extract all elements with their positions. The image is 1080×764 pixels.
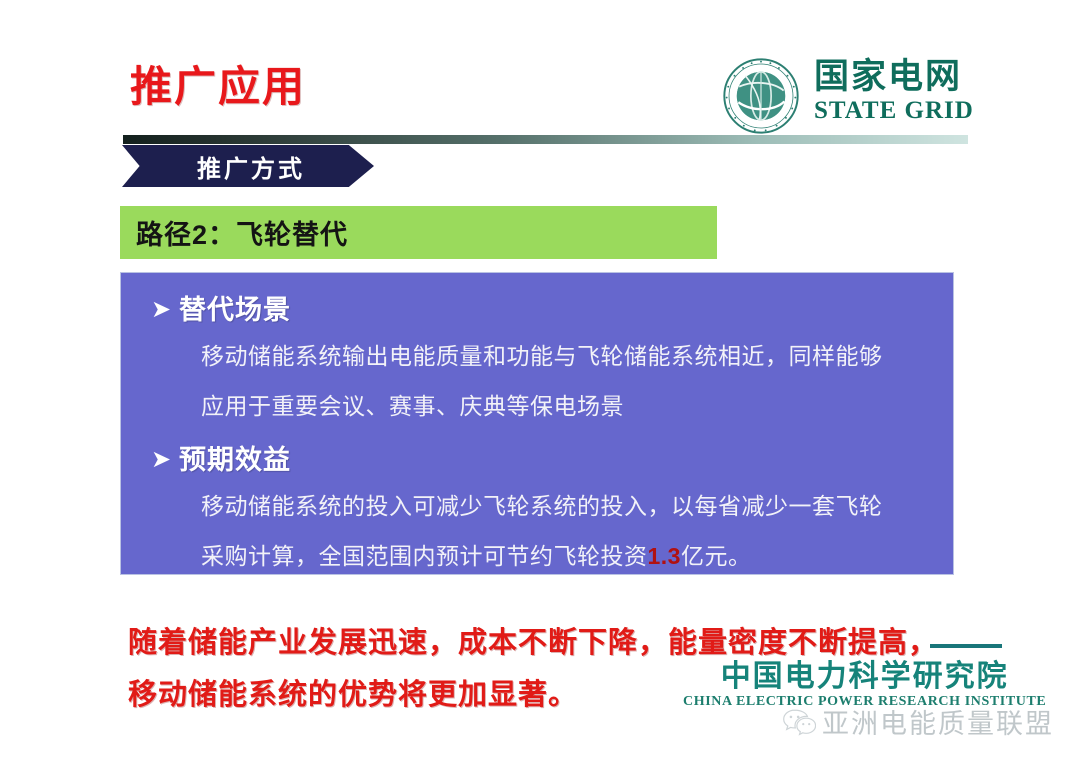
brand-wordmark: 国家电网 STATE GRID <box>814 59 974 123</box>
paragraph-text-before: 采购计算，全国范围内预计可节约飞轮投资 <box>201 543 648 569</box>
title-divider <box>123 135 968 144</box>
paragraph-line: 移动储能系统的投入可减少飞轮系统的投入，以每省减少一套飞轮 <box>201 483 931 529</box>
bullet-heading: 预期效益 <box>179 441 291 479</box>
green-section-bar: 路径2：飞轮替代 <box>120 206 717 259</box>
brand-name-en: STATE GRID <box>814 98 974 123</box>
paragraph-line: 应用于重要会议、赛事、庆典等保电场景 <box>201 383 931 429</box>
bullet-block-expected-benefit: ➤ 预期效益 <box>143 441 931 479</box>
chevron-arrow-bullet-icon: ➤ <box>143 441 179 479</box>
brand-name-cn: 国家电网 <box>814 59 974 94</box>
institute-name-cn: 中国电力科学研究院 <box>683 662 1046 692</box>
green-section-label: 路径2：飞轮替代 <box>120 213 348 252</box>
bullet-block-replacement-scenario: ➤ 替代场景 <box>143 291 931 329</box>
page-title: 推广应用 <box>130 66 306 108</box>
paragraph-line: 移动储能系统输出电能质量和功能与飞轮储能系统相近，同样能够 <box>201 333 931 379</box>
block-spacer <box>143 429 931 437</box>
watermark-text: 亚洲电能质量联盟 <box>822 702 1054 741</box>
highlight-value: 1.3 <box>648 543 681 569</box>
state-grid-globe-icon <box>722 57 800 135</box>
watermark: 亚洲电能质量联盟 <box>782 702 1054 741</box>
slide-canvas: 推广应用 <box>0 0 1080 764</box>
state-grid-brand: 国家电网 STATE GRID <box>722 55 972 135</box>
content-panel: ➤ 替代场景 移动储能系统输出电能质量和功能与飞轮储能系统相近，同样能够 应用于… <box>120 272 954 575</box>
chevron-arrow-bullet-icon: ➤ <box>143 291 179 329</box>
section-ribbon-label: 推广方式 <box>191 149 305 184</box>
paragraph-line-with-highlight: 采购计算，全国范围内预计可节约飞轮投资1.3亿元。 <box>201 533 931 579</box>
conclusion-accent-rule <box>930 644 1002 648</box>
section-ribbon: 推广方式 <box>122 145 374 187</box>
paragraph-text-after: 亿元。 <box>681 543 752 569</box>
bullet-heading: 替代场景 <box>179 291 291 329</box>
wechat-icon <box>782 707 816 737</box>
